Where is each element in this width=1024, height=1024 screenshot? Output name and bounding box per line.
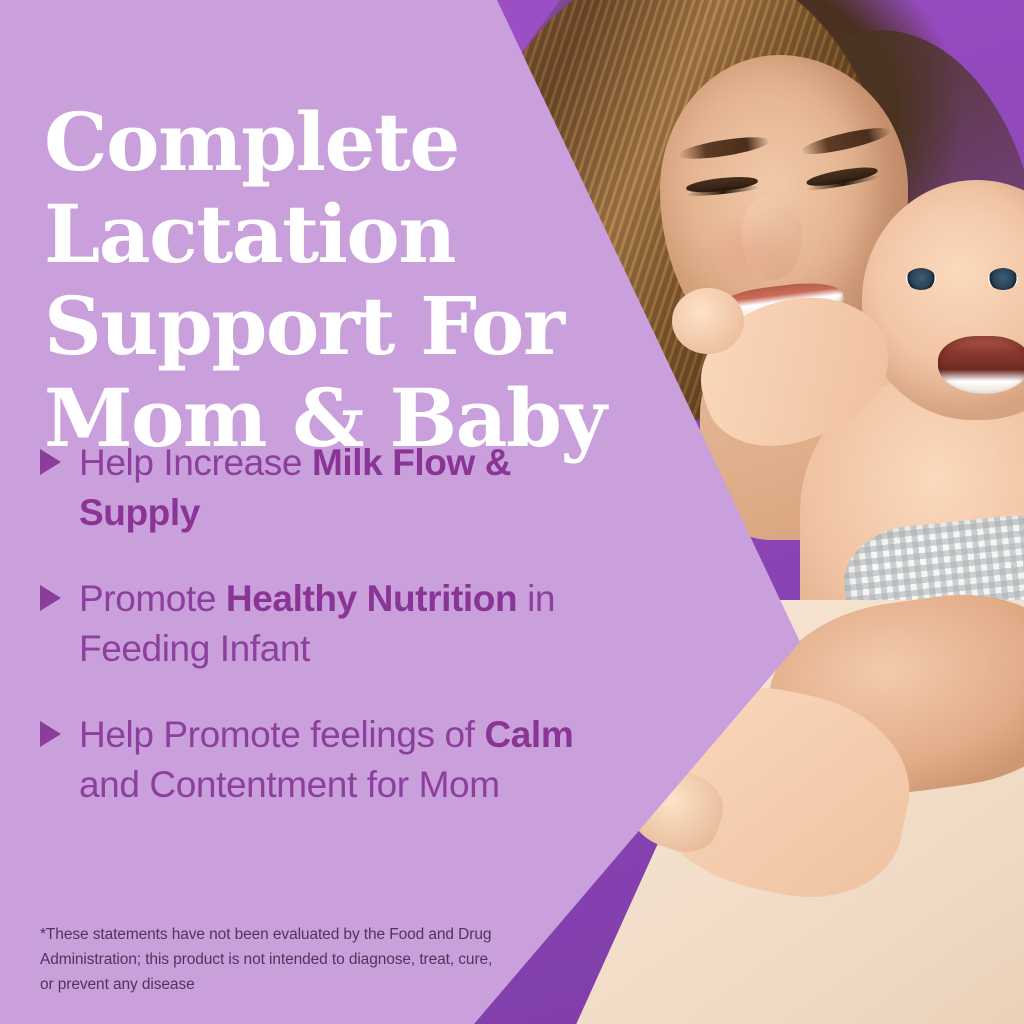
- baby-hand: [672, 288, 744, 354]
- baby-eye-left: [906, 268, 936, 290]
- headline-line-1: Complete: [44, 96, 624, 188]
- list-item: Help Increase Milk Flow & Supply: [40, 438, 640, 538]
- mother-nose: [742, 196, 802, 280]
- benefit-list: Help Increase Milk Flow & Supply Promote…: [40, 438, 640, 846]
- promo-graphic: Complete Lactation Support For Mom & Bab…: [0, 0, 1024, 1024]
- headline-line-2: Lactation: [44, 188, 624, 280]
- headline-line-3: Support For: [44, 280, 624, 372]
- list-item: Help Promote feelings of Calm and Conten…: [40, 710, 640, 810]
- baby-eye-right: [988, 268, 1018, 290]
- fda-disclaimer: *These statements have not been evaluate…: [40, 922, 510, 997]
- triangle-right-icon: [40, 585, 61, 611]
- list-item: Promote Healthy Nutrition in Feeding Inf…: [40, 574, 640, 674]
- benefit-text: Help Promote feelings of Calm and Conten…: [79, 710, 640, 810]
- content-column: Complete Lactation Support For Mom & Bab…: [0, 0, 640, 1024]
- benefit-text: Help Increase Milk Flow & Supply: [79, 438, 640, 538]
- triangle-right-icon: [40, 721, 61, 747]
- triangle-right-icon: [40, 449, 61, 475]
- baby-open-mouth: [938, 336, 1024, 394]
- benefit-text: Promote Healthy Nutrition in Feeding Inf…: [79, 574, 640, 674]
- page-title: Complete Lactation Support For Mom & Bab…: [44, 96, 624, 464]
